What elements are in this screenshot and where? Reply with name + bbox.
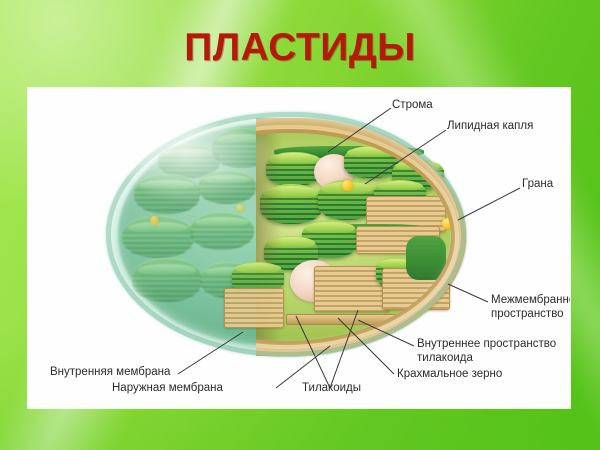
label-outer-membrane: Наружная мембрана xyxy=(112,382,223,396)
envelope-gloss xyxy=(126,124,276,204)
label-intermembrane-space: Межмембранное пространство xyxy=(491,294,570,321)
page-title: ПЛАСТИДЫ xyxy=(0,26,600,70)
slide: ПЛАСТИДЫ xyxy=(0,0,600,450)
label-thylakoids: Тилакоиды xyxy=(302,382,361,396)
label-starch-grain: Крахмальное зерно xyxy=(397,368,502,382)
figure-panel: Строма Липидная капля Грана Межмембранно… xyxy=(28,88,570,408)
label-lipid-droplet: Липидная капля xyxy=(447,120,533,134)
label-stroma: Строма xyxy=(392,99,433,113)
label-granum: Грана xyxy=(522,178,553,192)
label-inner-membrane: Внутренняя мембрана xyxy=(50,366,170,380)
chloroplast-illustration xyxy=(106,112,466,357)
figure-panel-inner: Строма Липидная капля Грана Межмембранно… xyxy=(28,88,570,408)
label-thylakoid-lumen: Внутреннее пространство тилакоида xyxy=(417,338,556,365)
